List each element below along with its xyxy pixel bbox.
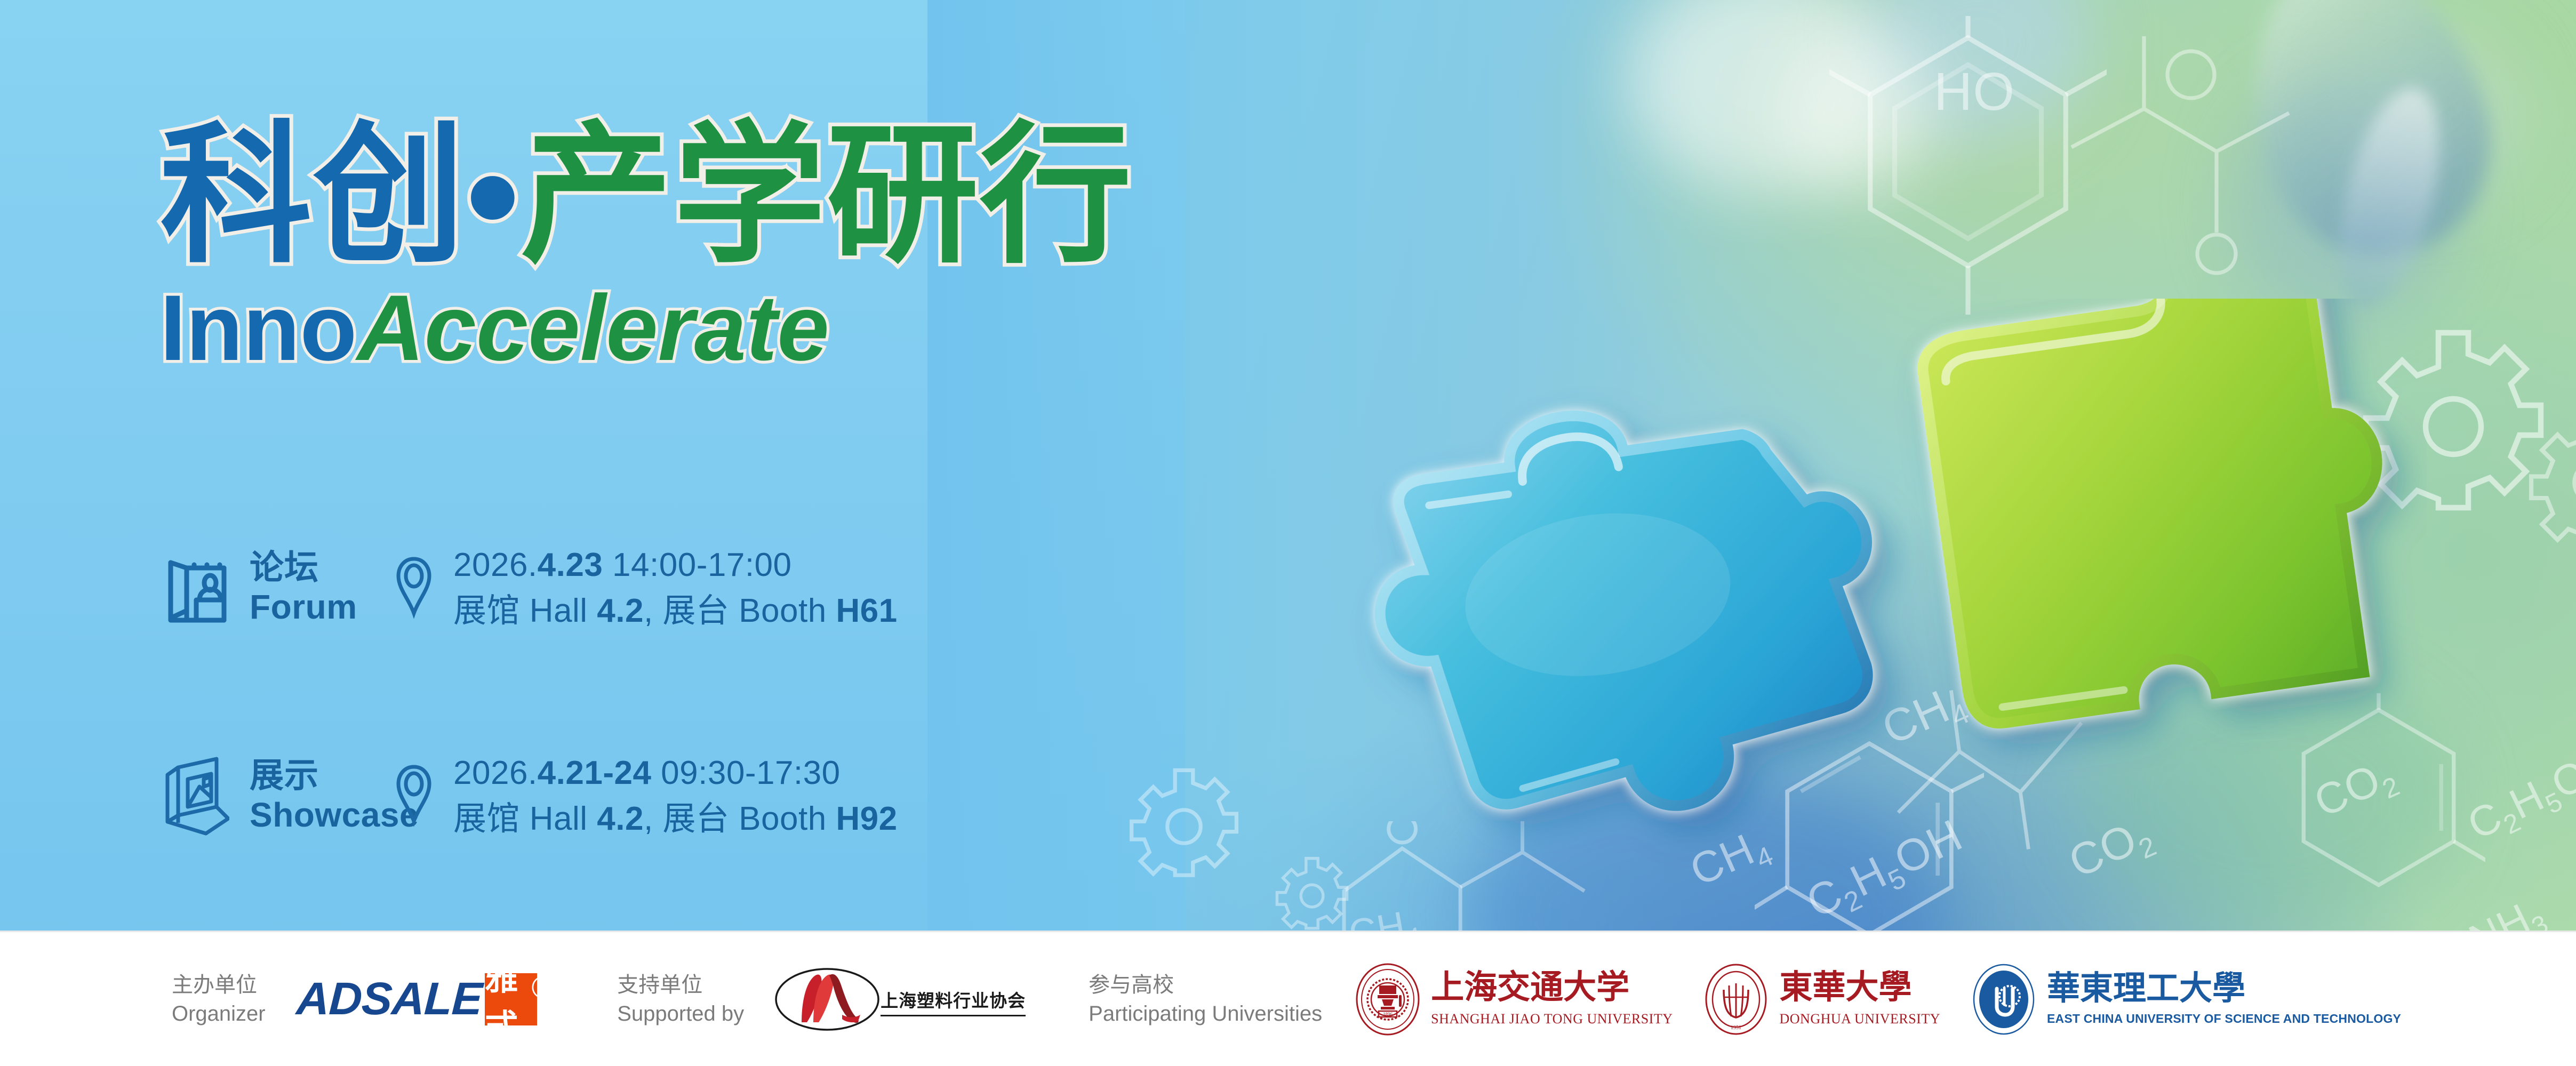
adsale-chinese-mark: 雅式 ®	[485, 973, 537, 1025]
event-details-showcase: 2026.4.21-24 09:30-17:30 展馆 Hall 4.2, 展台…	[453, 750, 898, 841]
event-datetime: 2026.4.23 14:00-17:00	[453, 542, 898, 588]
footer-supporter-group: 支持单位 Supported by 上海塑料行业协会	[617, 967, 1026, 1032]
page-title-english: InnoAccelerate	[160, 282, 1133, 375]
universities-caption: 参与高校 Participating Universities	[1089, 971, 1322, 1028]
donghua-name-cn: 東華大學	[1779, 971, 1940, 1004]
spia-logo[interactable]: 上海塑料行业协会	[774, 967, 1026, 1032]
event-date: 4.21-24	[538, 755, 652, 791]
registered-trademark-icon: ®	[531, 969, 555, 1007]
universities-caption-cn: 参与高校	[1089, 971, 1322, 999]
supporter-caption-en: Supported by	[617, 999, 744, 1028]
sjtu-seal-icon: 1896	[1354, 962, 1421, 1037]
spia-name-cn: 上海塑料行业协会	[881, 987, 1026, 1016]
university-logo-ecust[interactable]: 華東理工大學 EAST CHINA UNIVERSITY OF SCIENCE …	[1970, 962, 2401, 1037]
event-name-forum: 论坛 Forum	[250, 549, 378, 627]
donghua-name-en: DONGHUA UNIVERSITY	[1779, 1011, 1940, 1027]
title-block: 科创•产学研行 InnoAccelerate	[160, 120, 1133, 375]
supporter-caption: 支持单位 Supported by	[617, 971, 744, 1028]
forum-booth-icon	[160, 548, 229, 628]
universities-caption-en: Participating Universities	[1089, 999, 1322, 1028]
event-name-showcase: 展示 Showcase	[250, 757, 378, 835]
footer-universities-group: 参与高校 Participating Universities 1896	[1089, 962, 2401, 1037]
event-time: 14:00-17:00	[603, 547, 791, 583]
sjtu-seal-year: 1896	[1383, 1012, 1393, 1017]
event-details-forum: 2026.4.23 14:00-17:00 展馆 Hall 4.2, 展台 Bo…	[453, 542, 898, 634]
supporter-caption-cn: 支持单位	[617, 971, 744, 999]
sjtu-name-en: SHANGHAI JIAO TONG UNIVERSITY	[1431, 1011, 1673, 1027]
title-chinese-blue: 科创	[160, 111, 466, 280]
university-logo-sjtu[interactable]: 1896 上海交通大学 SHANGHAI JIAO TONG UNIVERSIT…	[1354, 962, 1673, 1037]
adsale-wordmark: ADSALE	[295, 973, 483, 1025]
venue-hall-label: 展馆 Hall	[453, 592, 597, 629]
organizer-caption-cn: 主办单位	[172, 971, 266, 999]
location-pin-icon	[388, 556, 439, 621]
venue-booth-value: H61	[836, 592, 897, 629]
event-name-cn: 论坛	[250, 549, 378, 587]
event-row-showcase: 展示 Showcase 2026.4.21-24 09:30-17:30 展馆 …	[160, 749, 898, 843]
ecust-name-cn: 華東理工大學	[2047, 972, 2401, 1005]
event-datetime: 2026.4.21-24 09:30-17:30	[453, 750, 898, 796]
venue-hall-value: 4.2	[597, 592, 644, 629]
university-logo-donghua[interactable]: 1951 東華大學 DONGHUA UNIVERSITY	[1702, 962, 1940, 1037]
event-list: 论坛 Forum 2026.4.23 14:00-17:00 展馆 Hall 4…	[160, 541, 898, 843]
page-title-chinese: 科创•产学研行	[160, 120, 1133, 272]
title-english-accelerate: Accelerate	[357, 276, 829, 380]
event-year: 2026.	[453, 547, 538, 583]
title-separator-dot: •	[466, 111, 521, 280]
ecust-seal-icon	[1970, 962, 2037, 1037]
sjtu-name-block: 上海交通大学 SHANGHAI JIAO TONG UNIVERSITY	[1431, 971, 1673, 1027]
donghua-seal-icon: 1951	[1702, 962, 1770, 1037]
event-row-forum: 论坛 Forum 2026.4.23 14:00-17:00 展馆 Hall 4…	[160, 541, 898, 635]
ecust-name-block: 華東理工大學 EAST CHINA UNIVERSITY OF SCIENCE …	[2047, 972, 2401, 1027]
event-name-en: Forum	[250, 587, 378, 628]
venue-booth-value: H92	[836, 800, 897, 837]
event-year: 2026.	[453, 755, 538, 791]
ecust-name-en: EAST CHINA UNIVERSITY OF SCIENCE AND TEC…	[2047, 1012, 2401, 1027]
showcase-display-icon	[160, 756, 229, 836]
donghua-name-block: 東華大學 DONGHUA UNIVERSITY	[1779, 971, 1940, 1027]
event-name-en: Showcase	[250, 795, 378, 836]
location-pin-icon	[388, 764, 439, 829]
venue-hall-label: 展馆 Hall	[453, 800, 597, 837]
adsale-logo[interactable]: ADSALE 雅式 ®	[297, 973, 538, 1025]
organizer-caption: 主办单位 Organizer	[172, 971, 266, 1028]
footer-logo-bar: 主办单位 Organizer ADSALE 雅式 ® 支持单位 Supporte…	[0, 931, 2576, 1066]
event-name-cn: 展示	[250, 757, 378, 795]
title-chinese-green: 产学研行	[521, 111, 1133, 280]
spia-emblem-icon	[774, 967, 881, 1032]
event-date: 4.23	[538, 547, 603, 583]
event-venue: 展馆 Hall 4.2, 展台 Booth H92	[453, 796, 898, 842]
event-time: 09:30-17:30	[651, 755, 840, 791]
puzzle-pieces-graphic	[1307, 299, 2427, 965]
venue-booth-label: , 展台 Booth	[644, 592, 836, 629]
venue-booth-label: , 展台 Booth	[644, 800, 836, 837]
event-venue: 展馆 Hall 4.2, 展台 Booth H61	[453, 588, 898, 634]
event-banner: HO CH4 C2H5OH CO2 CH4 CO2 C2H5OH NH3 CH4	[0, 0, 2576, 1066]
sjtu-name-cn: 上海交通大学	[1431, 971, 1673, 1004]
adsale-chinese-text: 雅式	[485, 951, 537, 1047]
title-english-inno: Inno	[160, 276, 357, 380]
organizer-caption-en: Organizer	[172, 999, 266, 1028]
footer-organizer-group: 主办单位 Organizer ADSALE 雅式 ®	[172, 971, 537, 1028]
donghua-seal-year: 1951	[1731, 1025, 1741, 1031]
venue-hall-value: 4.2	[597, 800, 644, 837]
